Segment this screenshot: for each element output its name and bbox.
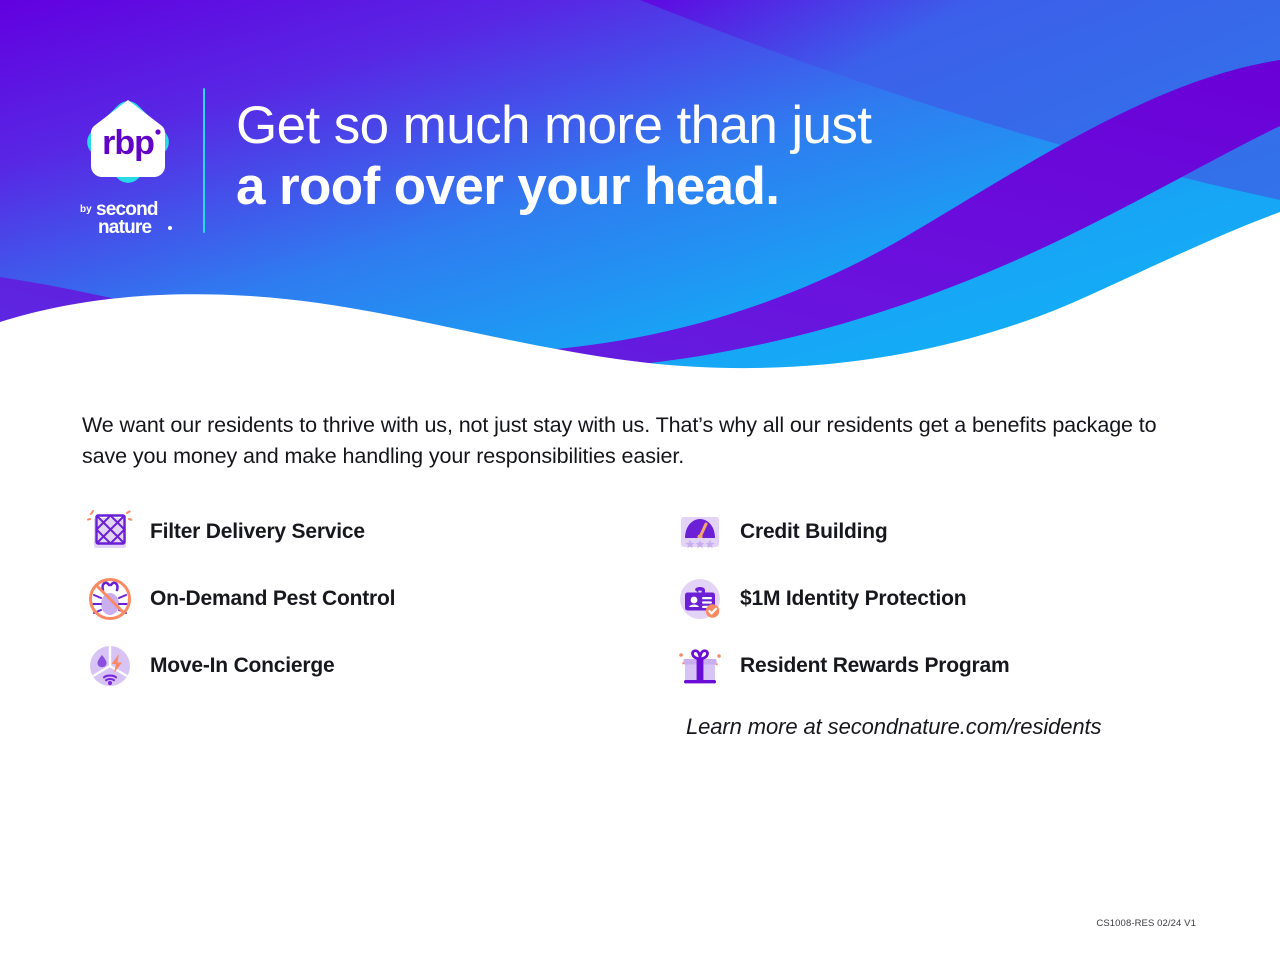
filter-icon — [82, 506, 138, 558]
gift-icon — [672, 640, 728, 692]
header-divider — [203, 88, 205, 233]
rbp-logo-mark: rbp — [78, 92, 178, 192]
benefit-item-identity-protection: $1M Identity Protection — [672, 565, 1182, 632]
page-title: Get so much more than just a roof over y… — [236, 96, 996, 216]
benefit-label: Resident Rewards Program — [740, 654, 1009, 678]
headline-line-1: Get so much more than just — [236, 96, 996, 155]
benefit-label: Filter Delivery Service — [150, 520, 365, 544]
benefits-list: Filter Delivery Service Credit Building — [82, 498, 1182, 699]
move-in-utilities-icon — [82, 640, 138, 692]
benefit-label: On-Demand Pest Control — [150, 587, 395, 611]
intro-paragraph: We want our residents to thrive with us,… — [82, 410, 1172, 472]
rbp-logo-byline: by second nature — [74, 198, 182, 242]
rbp-logo: rbp by second nature — [72, 92, 184, 242]
benefit-label: Move-In Concierge — [150, 654, 334, 678]
credit-gauge-icon — [672, 506, 728, 558]
benefit-item-move-in-concierge: Move-In Concierge — [82, 632, 672, 699]
headline-line-2: a roof over your head. — [236, 157, 996, 216]
pest-control-icon — [82, 573, 138, 625]
benefit-item-filter-delivery-service: Filter Delivery Service — [82, 498, 672, 565]
id-badge-check-icon — [672, 573, 728, 625]
benefit-label: $1M Identity Protection — [740, 587, 966, 611]
svg-text:nature: nature — [98, 217, 152, 238]
benefit-item-resident-rewards-program: Resident Rewards Program — [672, 632, 1182, 699]
hero-banner: rbp by second nature Get so much more th… — [0, 0, 1280, 380]
svg-text:rbp: rbp — [102, 124, 154, 162]
learn-more-text: Learn more at secondnature.com/residents — [686, 714, 1101, 740]
benefit-item-credit-building: Credit Building — [672, 498, 1182, 565]
benefit-label: Credit Building — [740, 520, 888, 544]
svg-text:by: by — [80, 204, 92, 215]
benefit-item-on-demand-pest-control: On-Demand Pest Control — [82, 565, 672, 632]
document-code: CS1008-RES 02/24 V1 — [1096, 918, 1196, 929]
